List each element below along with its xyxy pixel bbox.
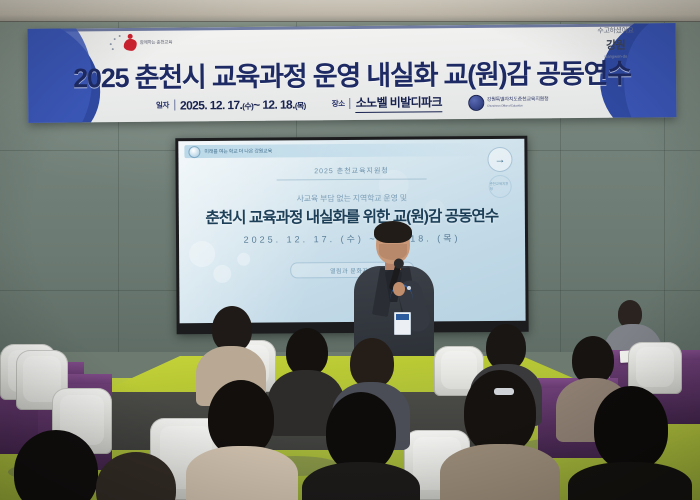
logo-text: 함께하는 춘천교육 bbox=[140, 39, 173, 45]
office-name: 강원특별자치도춘천교육지원청 Chuncheon Office of Educa… bbox=[487, 96, 549, 109]
next-arrow-icon[interactable]: → bbox=[487, 147, 512, 172]
date-label: 일자 bbox=[156, 100, 169, 111]
attendee-front bbox=[186, 380, 298, 500]
attendee-front bbox=[440, 370, 560, 500]
speaker-hair bbox=[374, 221, 412, 243]
slide-header-text: 미래를 여는 학교 더 나은 강원교육 bbox=[204, 148, 272, 155]
shoulders bbox=[568, 462, 692, 500]
divider bbox=[174, 100, 175, 111]
speaker-hand bbox=[393, 282, 405, 296]
shoulders bbox=[302, 462, 420, 500]
event-banner: 함께하는 춘천교육 수고하셨어요 강원 Gangwon-do 2025 춘천시 … bbox=[28, 23, 677, 123]
head bbox=[208, 380, 274, 456]
banner-title: 2025 춘천시 교육과정 운영 내실화 교(원)감 공동연수 bbox=[28, 51, 676, 96]
attendee-front bbox=[86, 452, 196, 500]
shoulders bbox=[186, 446, 298, 500]
bokeh bbox=[237, 253, 250, 266]
gangwon-edu-icon bbox=[188, 146, 200, 158]
date-value: 2025. 12. 17.(수)~ 12. 18.(목) bbox=[180, 97, 306, 112]
chuncheon-education-logo: 함께하는 춘천교육 bbox=[124, 34, 173, 51]
divider bbox=[350, 98, 351, 109]
head bbox=[350, 338, 394, 388]
attendee-front bbox=[302, 392, 420, 500]
hair-clip-icon bbox=[494, 388, 514, 395]
name-badge bbox=[394, 312, 411, 335]
slide-watermark: 춘천교육지원청 bbox=[489, 175, 512, 198]
head bbox=[326, 392, 396, 472]
gangwon-logo-main: 강원 bbox=[597, 37, 633, 53]
slide-kicker: 2025 춘천교육지원청 bbox=[179, 165, 525, 177]
slide-header-bar: 미래를 여는 학교 더 나은 강원교육 bbox=[184, 143, 488, 158]
office-seal-icon bbox=[468, 94, 484, 110]
place-value: 소노벨 비발디파크 bbox=[356, 93, 442, 113]
shoulders bbox=[440, 444, 560, 500]
head bbox=[594, 386, 668, 470]
head bbox=[464, 370, 536, 454]
ceiling bbox=[0, 0, 700, 24]
speaker-face-shadow bbox=[379, 244, 407, 260]
conference-photo: 함께하는 춘천교육 수고하셨어요 강원 Gangwon-do 2025 춘천시 … bbox=[0, 0, 700, 500]
lapel-pin-icon bbox=[407, 286, 411, 290]
place-label: 장소 bbox=[332, 98, 345, 109]
head bbox=[96, 452, 176, 500]
head bbox=[286, 328, 328, 376]
running-figure-icon bbox=[124, 34, 137, 51]
attendee-front bbox=[568, 386, 692, 500]
gangwon-logo-top: 수고하셨어요 bbox=[597, 26, 633, 36]
bokeh bbox=[213, 265, 231, 283]
education-office-logo: 강원특별자치도춘천교육지원청 Chuncheon Office of Educa… bbox=[468, 94, 549, 111]
logo-dots-icon bbox=[110, 35, 124, 49]
head bbox=[572, 336, 614, 384]
